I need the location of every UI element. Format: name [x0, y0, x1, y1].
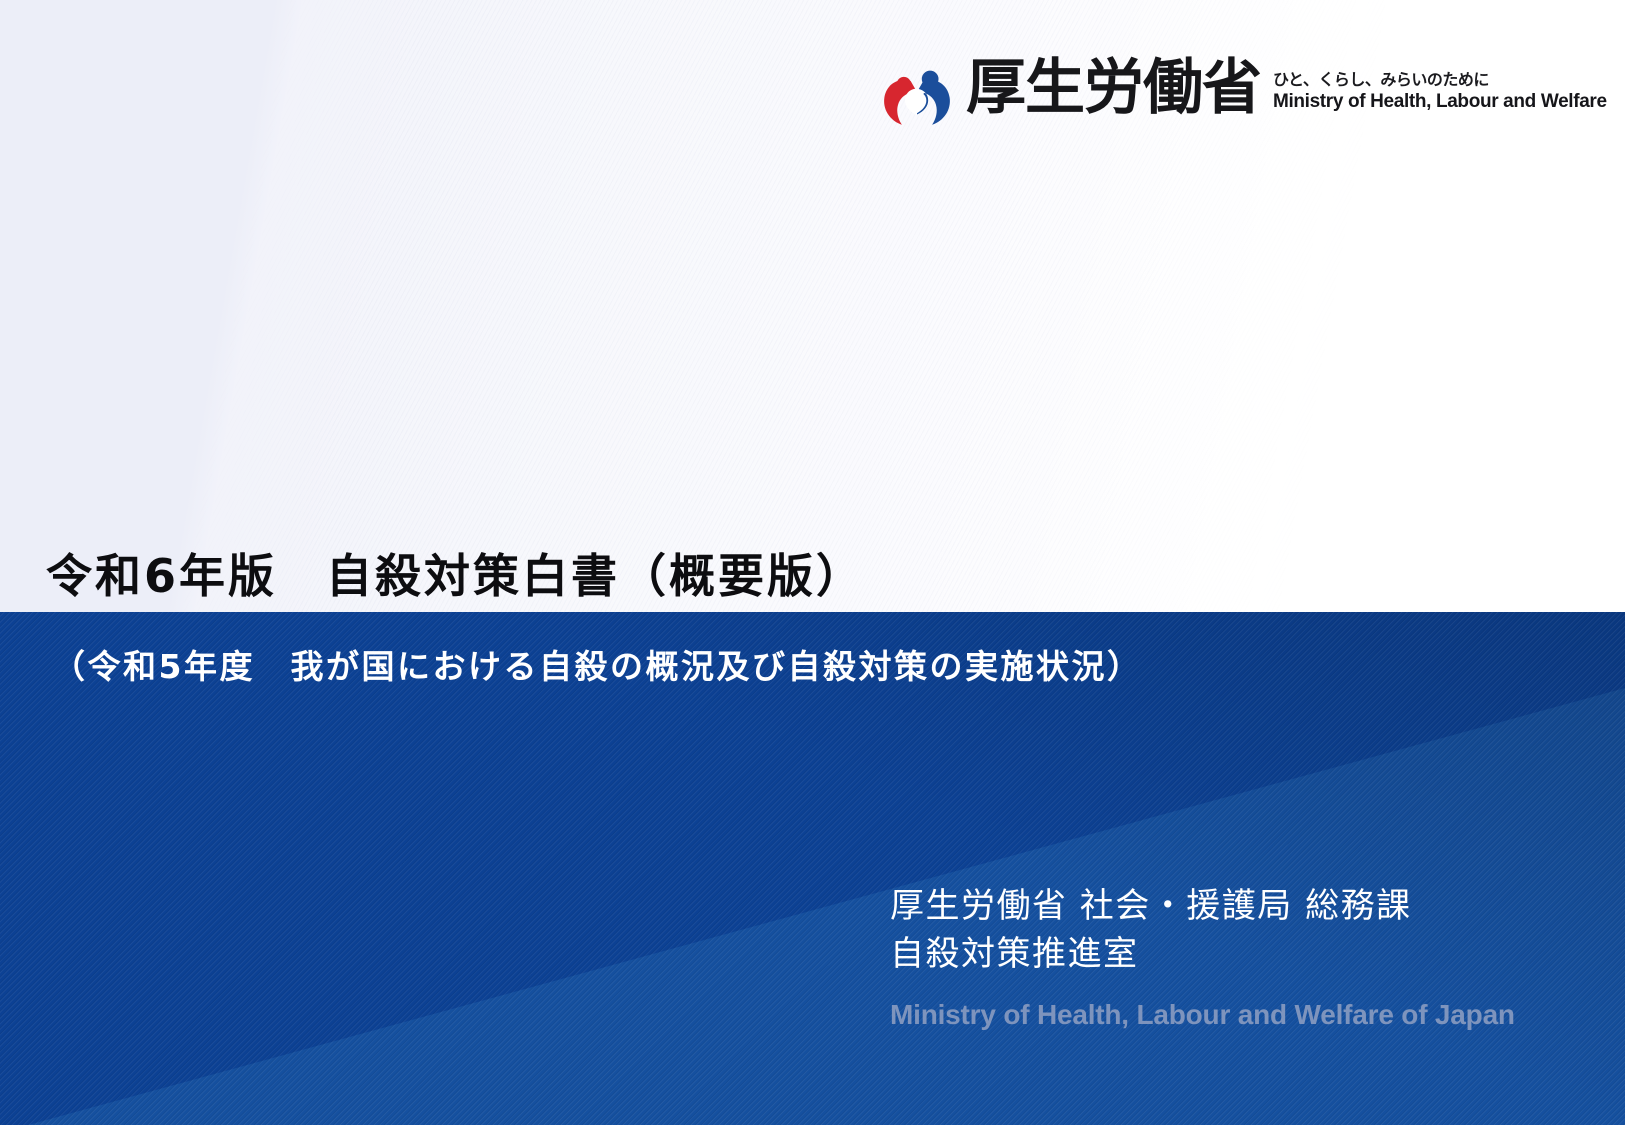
- mhlw-wordmark: 厚生労働省 ひと、くらし、みらいのために Ministry of Health,…: [966, 58, 1607, 118]
- title-slide: 厚生労働省 ひと、くらし、みらいのために Ministry of Health,…: [0, 0, 1625, 1125]
- page-subtitle: （令和5年度 我が国における自殺の概況及び自殺対策の実施状況）: [52, 640, 1142, 688]
- attribution-line-1: 厚生労働省 社会・援護局 総務課: [890, 882, 1515, 930]
- mhlw-logo: 厚生労働省 ひと、くらし、みらいのために Ministry of Health,…: [878, 58, 1607, 135]
- attribution-block: 厚生労働省 社会・援護局 総務課 自殺対策推進室 Ministry of Hea…: [890, 882, 1515, 1031]
- mhlw-heart-figures-icon: [878, 61, 956, 135]
- page-title: 令和6年版 自殺対策白書（概要版）: [46, 540, 865, 606]
- mhlw-tagline-jp: ひと、くらし、みらいのために: [1273, 70, 1607, 90]
- mhlw-tagline-en: Ministry of Health, Labour and Welfare: [1273, 90, 1607, 114]
- diagonal-wedge-shape: [0, 612, 1625, 1125]
- attribution-line-english: Ministry of Health, Labour and Welfare o…: [890, 999, 1515, 1031]
- mhlw-kanji-name: 厚生労働省: [966, 58, 1261, 118]
- mhlw-tagline: ひと、くらし、みらいのために Ministry of Health, Labou…: [1273, 70, 1607, 118]
- attribution-line-2: 自殺対策推進室: [890, 930, 1515, 978]
- bottom-blue-panel: [0, 612, 1625, 1125]
